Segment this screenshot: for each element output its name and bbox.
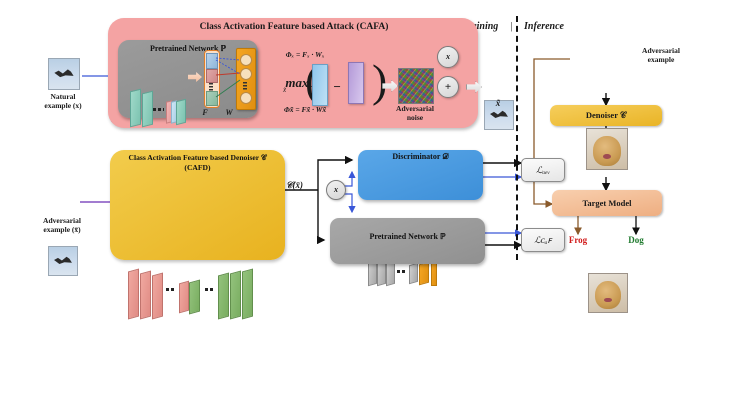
weight-ellipsis bbox=[243, 82, 247, 90]
adversarial-example-label-1: Adversarial bbox=[24, 216, 100, 225]
adversarial-example-label-2: example (x̃) bbox=[24, 225, 100, 234]
pretrained-network-title-2: Pretrained Network ℙ bbox=[330, 232, 485, 241]
phase-label-inference: Inference bbox=[524, 21, 564, 32]
pretrained-network-box-2 bbox=[330, 218, 485, 264]
denoiser-output-label: 𝒞(x̄) bbox=[286, 180, 303, 191]
phase-separator: | bbox=[510, 21, 513, 32]
branch-input-node-label: x bbox=[327, 181, 345, 199]
addition-operator-node: + bbox=[437, 76, 459, 98]
minus-operator: − bbox=[333, 79, 341, 95]
cafa-title: Class Activation Feature based Attack (C… bbox=[120, 20, 468, 34]
inference-denoiser-box: Denoiser 𝒞 bbox=[550, 105, 662, 126]
adversarial-noise-label-2: noise bbox=[386, 113, 444, 122]
adversarial-noise-label-1: Adversarial bbox=[386, 104, 444, 113]
feature-slice-2 bbox=[206, 69, 218, 83]
natural-example-label-1: Natural bbox=[30, 92, 96, 101]
feature-ellipsis bbox=[209, 83, 213, 91]
adversarial-example-image bbox=[48, 246, 78, 276]
objective-subscript: x̃ bbox=[283, 86, 286, 94]
target-model-label: Target Model bbox=[582, 198, 631, 208]
feature-bar-adversarial bbox=[348, 62, 364, 104]
cafd-title-line2: (CAFD) bbox=[184, 163, 210, 173]
cafd-title-line1: Class Activation Feature based Denoiser … bbox=[129, 153, 267, 163]
weight-node-1 bbox=[240, 54, 252, 66]
inference-adversarial-label-1: Adversarial bbox=[630, 46, 692, 55]
output-label-correct: Dog bbox=[612, 236, 660, 245]
training-inference-divider bbox=[516, 16, 518, 260]
discriminator-title: Discriminator 𝒟 bbox=[358, 152, 483, 162]
inference-denoiser-label: Denoiser 𝒞 bbox=[586, 110, 626, 121]
feature-slice-1 bbox=[206, 53, 218, 69]
equation-adversarial: Φx̃ = Fx̃ · Wx̃ bbox=[262, 105, 348, 114]
target-model-box: Target Model bbox=[552, 190, 662, 216]
weight-node-3 bbox=[240, 92, 252, 104]
feature-slice-3 bbox=[206, 91, 218, 106]
addition-operator-label: + bbox=[438, 77, 458, 97]
natural-example-image bbox=[48, 58, 80, 90]
paren-close: ) bbox=[372, 58, 387, 104]
adversarial-output-label: x̃ bbox=[484, 99, 512, 108]
natural-input-node: x bbox=[437, 46, 459, 68]
output-label-wrong: Frog bbox=[552, 236, 604, 245]
inference-denoised-image bbox=[588, 273, 628, 313]
feature-label: F bbox=[198, 108, 212, 117]
cafd-title-wrap: Class Activation Feature based Denoiser … bbox=[112, 153, 283, 173]
natural-input-node-label: x bbox=[438, 47, 458, 67]
loss-caf-label: ℒᴄₐꜰ bbox=[534, 235, 552, 246]
weight-node-2 bbox=[240, 68, 252, 80]
inference-adversarial-label-2: example bbox=[630, 55, 692, 64]
adversarial-noise-image bbox=[398, 68, 434, 104]
inference-adversarial-image bbox=[586, 128, 628, 170]
natural-example-label-2: example (x) bbox=[30, 101, 96, 110]
loss-adv-label: ℒₐₑᵥ bbox=[536, 165, 550, 176]
branch-input-node: x bbox=[326, 180, 346, 200]
loss-adv-box: ℒₐₑᵥ bbox=[521, 158, 565, 182]
weight-label: W bbox=[222, 108, 236, 117]
feature-bar-natural bbox=[312, 64, 328, 106]
